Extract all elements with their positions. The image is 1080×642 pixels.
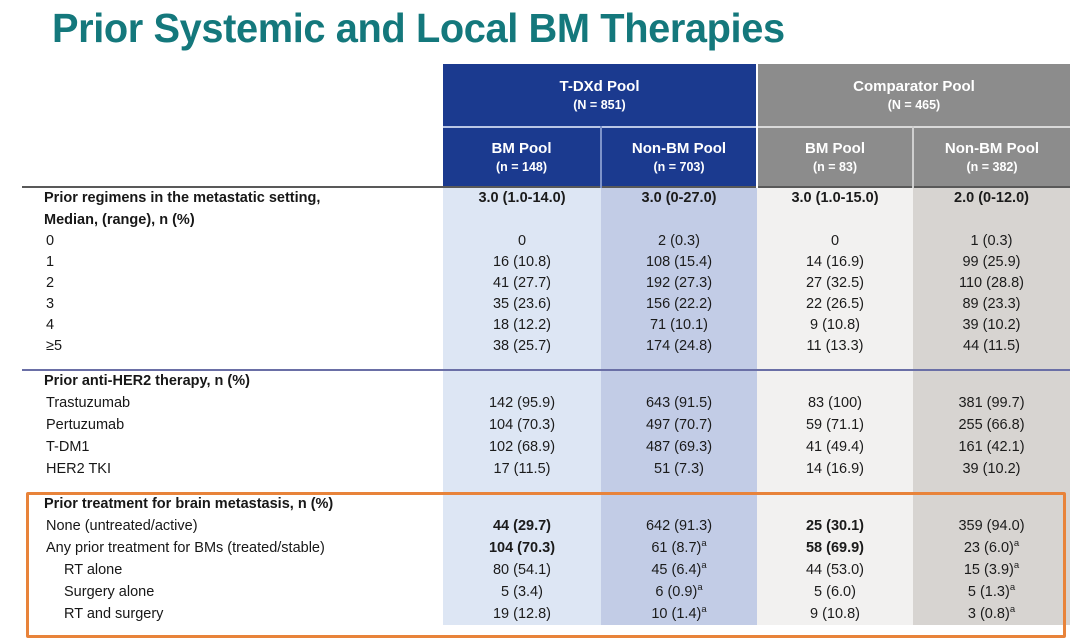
section-gap-1-c1: [443, 357, 601, 370]
row-value-her2-3-c1: 17 (11.5): [443, 458, 601, 480]
row-value-regimens-4-c4: 39 (10.2): [913, 315, 1070, 336]
spacer-c4: [913, 209, 1070, 231]
column-header-tdxd-bm-label: BM Pool: [492, 140, 552, 157]
row-value-bmtx-2-c3: 44 (53.0): [757, 559, 913, 581]
row-value-bmtx-3-c3: 5 (6.0): [757, 581, 913, 603]
section-prior-regimens-heading-line1: Prior regimens in the metastatic setting…: [22, 187, 443, 209]
column-header-comparator-bm-label: BM Pool: [805, 140, 865, 157]
table-row: Pertuzumab 104 (70.3) 497 (70.7) 59 (71.…: [22, 414, 1070, 436]
row-value-bmtx-2-c2-text: 45 (6.4): [651, 562, 701, 578]
footnote-marker: a: [1014, 560, 1019, 571]
row-value-regimens-0-c2: 2 (0.3): [601, 231, 757, 252]
section-gap-1-c3: [757, 357, 913, 370]
row-label-bmtx-2: RT alone: [22, 559, 443, 581]
footnote-marker: a: [701, 560, 706, 571]
section-gap-2-c4: [913, 480, 1070, 493]
spacer-c3: [757, 209, 913, 231]
row-value-regimens-1-c3: 14 (16.9): [757, 252, 913, 273]
row-value-bmtx-4-c4: 3 (0.8)a: [913, 603, 1070, 625]
row-value-her2-0-c4: 381 (99.7): [913, 392, 1070, 414]
spacer-c1: [443, 209, 601, 231]
group-header-comparator-pool: Comparator Pool (N = 465): [757, 64, 1070, 127]
row-value-bmtx-4-c2-text: 10 (1.4): [651, 606, 701, 622]
row-label-bmtx-1: Any prior treatment for BMs (treated/sta…: [22, 537, 443, 559]
row-value-bmtx-4-c1: 19 (12.8): [443, 603, 601, 625]
row-value-bmtx-1-c2-text: 61 (8.7): [651, 540, 701, 556]
section-gap-2: [22, 480, 1070, 493]
row-value-bmtx-0-c2: 642 (91.3): [601, 515, 757, 537]
section-prior-anti-her2-c4: [913, 370, 1070, 392]
row-value-regimens-2-c1: 41 (27.7): [443, 273, 601, 294]
row-value-regimens-5-c2: 174 (24.8): [601, 336, 757, 357]
column-header-comparator-nonbm-pool: Non-BM Pool (n = 382): [913, 127, 1070, 187]
section-prior-regimens-median-c4: 2.0 (0-12.0): [913, 187, 1070, 209]
row-value-regimens-0-c3: 0: [757, 231, 913, 252]
row-value-regimens-2-c3: 27 (32.5): [757, 273, 913, 294]
row-label-bmtx-4: RT and surgery: [22, 603, 443, 625]
row-value-her2-2-c3: 41 (49.4): [757, 436, 913, 458]
row-value-regimens-1-c4: 99 (25.9): [913, 252, 1070, 273]
group-header-tdxd-n: (N = 851): [443, 97, 756, 113]
table-row: 2 41 (27.7) 192 (27.3) 27 (32.5) 110 (28…: [22, 273, 1070, 294]
column-header-tdxd-nonbm-label: Non-BM Pool: [632, 140, 726, 157]
section-brain-met-c1: [443, 493, 601, 515]
row-value-her2-0-c3: 83 (100): [757, 392, 913, 414]
table-row: Surgery alone 5 (3.4) 6 (0.9)a 5 (6.0) 5…: [22, 581, 1070, 603]
column-header-comparator-bm-pool: BM Pool (n = 83): [757, 127, 913, 187]
section-brain-met-c3: [757, 493, 913, 515]
footnote-marker: a: [697, 582, 702, 593]
row-value-bmtx-3-c4: 5 (1.3)a: [913, 581, 1070, 603]
section-gap-2-c3: [757, 480, 913, 493]
table-header: T-DXd Pool (N = 851) Comparator Pool (N …: [22, 64, 1070, 187]
section-gap-2-label: [22, 480, 443, 493]
row-value-bmtx-4-c3: 9 (10.8): [757, 603, 913, 625]
section-brain-met-heading: Prior treatment for brain metastasis, n …: [22, 493, 443, 515]
row-label-regimens-4: 4: [22, 315, 443, 336]
row-value-bmtx-3-c4-text: 5 (1.3): [968, 584, 1010, 600]
footnote-marker: a: [701, 604, 706, 615]
section-prior-regimens-median-c1: 3.0 (1.0-14.0): [443, 187, 601, 209]
row-label-regimens-3: 3: [22, 294, 443, 315]
group-header-tdxd-pool: T-DXd Pool (N = 851): [443, 64, 757, 127]
section-gap-2-c2: [601, 480, 757, 493]
table-body: Prior regimens in the metastatic setting…: [22, 187, 1070, 625]
row-value-regimens-3-c4: 89 (23.3): [913, 294, 1070, 315]
prior-therapies-table: T-DXd Pool (N = 851) Comparator Pool (N …: [22, 64, 1070, 625]
header-corner-blank: [22, 64, 443, 127]
row-value-regimens-3-c2: 156 (22.2): [601, 294, 757, 315]
row-value-regimens-5-c4: 44 (11.5): [913, 336, 1070, 357]
row-value-regimens-0-c1: 0: [443, 231, 601, 252]
section-gap-1: [22, 357, 1070, 370]
row-value-bmtx-1-c3: 58 (69.9): [757, 537, 913, 559]
table-row: 3 35 (23.6) 156 (22.2) 22 (26.5) 89 (23.…: [22, 294, 1070, 315]
row-label-regimens-5: ≥5: [22, 336, 443, 357]
column-header-tdxd-nonbm-pool: Non-BM Pool (n = 703): [601, 127, 757, 187]
row-value-regimens-3-c1: 35 (23.6): [443, 294, 601, 315]
row-value-her2-1-c3: 59 (71.1): [757, 414, 913, 436]
row-value-regimens-4-c2: 71 (10.1): [601, 315, 757, 336]
row-value-bmtx-3-c2: 6 (0.9)a: [601, 581, 757, 603]
section-brain-met-heading-row: Prior treatment for brain metastasis, n …: [22, 493, 1070, 515]
row-value-regimens-0-c4: 1 (0.3): [913, 231, 1070, 252]
row-label-regimens-2: 2: [22, 273, 443, 294]
section-prior-regimens-heading-row2: Median, (range), n (%): [22, 209, 1070, 231]
column-header-tdxd-bm-pool: BM Pool (n = 148): [443, 127, 601, 187]
row-value-bmtx-0-c3: 25 (30.1): [757, 515, 913, 537]
row-value-bmtx-0-c4-text: 359 (94.0): [958, 518, 1024, 534]
row-value-her2-0-c2: 643 (91.5): [601, 392, 757, 414]
row-value-bmtx-1-c1: 104 (70.3): [443, 537, 601, 559]
row-value-her2-2-c1: 102 (68.9): [443, 436, 601, 458]
table-row: RT and surgery 19 (12.8) 10 (1.4)a 9 (10…: [22, 603, 1070, 625]
section-gap-1-c2: [601, 357, 757, 370]
table-row: 4 18 (12.2) 71 (10.1) 9 (10.8) 39 (10.2): [22, 315, 1070, 336]
group-header-tdxd-label: T-DXd Pool: [560, 78, 640, 95]
section-brain-met-c4: [913, 493, 1070, 515]
therapies-table-container: T-DXd Pool (N = 851) Comparator Pool (N …: [22, 64, 1070, 642]
row-value-her2-0-c1: 142 (95.9): [443, 392, 601, 414]
row-value-her2-3-c2: 51 (7.3): [601, 458, 757, 480]
row-value-bmtx-2-c2: 45 (6.4)a: [601, 559, 757, 581]
section-prior-regimens-heading-line2: Median, (range), n (%): [22, 209, 443, 231]
row-value-regimens-2-c2: 192 (27.3): [601, 273, 757, 294]
table-row: None (untreated/active) 44 (29.7) 642 (9…: [22, 515, 1070, 537]
row-label-regimens-0: 0: [22, 231, 443, 252]
column-header-comparator-bm-n: (n = 83): [758, 159, 912, 175]
row-label-her2-2: T-DM1: [22, 436, 443, 458]
row-label-regimens-1: 1: [22, 252, 443, 273]
section-prior-regimens-median-c2: 3.0 (0-27.0): [601, 187, 757, 209]
column-header-comparator-nonbm-label: Non-BM Pool: [945, 140, 1039, 157]
section-gap-2-c1: [443, 480, 601, 493]
row-value-bmtx-1-c2: 61 (8.7)a: [601, 537, 757, 559]
row-value-her2-2-c4: 161 (42.1): [913, 436, 1070, 458]
footnote-marker: a: [701, 538, 706, 549]
footnote-marker: a: [1010, 582, 1015, 593]
row-value-regimens-5-c3: 11 (13.3): [757, 336, 913, 357]
column-header-row: BM Pool (n = 148) Non-BM Pool (n = 703) …: [22, 127, 1070, 187]
column-header-tdxd-nonbm-n: (n = 703): [602, 159, 756, 175]
table-row: T-DM1 102 (68.9) 487 (69.3) 41 (49.4) 16…: [22, 436, 1070, 458]
row-value-bmtx-1-c4-text: 23 (6.0): [964, 540, 1014, 556]
section-gap-1-c4: [913, 357, 1070, 370]
group-header-comparator-label: Comparator Pool: [853, 78, 975, 95]
row-value-bmtx-2-c1: 80 (54.1): [443, 559, 601, 581]
row-value-her2-3-c3: 14 (16.9): [757, 458, 913, 480]
row-value-bmtx-1-c4: 23 (6.0)a: [913, 537, 1070, 559]
section-prior-anti-her2-c1: [443, 370, 601, 392]
row-value-her2-2-c2: 487 (69.3): [601, 436, 757, 458]
row-label-bmtx-0: None (untreated/active): [22, 515, 443, 537]
group-header-row: T-DXd Pool (N = 851) Comparator Pool (N …: [22, 64, 1070, 127]
section-prior-anti-her2-heading: Prior anti-HER2 therapy, n (%): [22, 370, 443, 392]
section-prior-anti-her2-c3: [757, 370, 913, 392]
table-row: ≥5 38 (25.7) 174 (24.8) 11 (13.3) 44 (11…: [22, 336, 1070, 357]
group-header-comparator-n: (N = 465): [758, 97, 1070, 113]
row-label-bmtx-3: Surgery alone: [22, 581, 443, 603]
section-gap-1-label: [22, 357, 443, 370]
section-prior-regimens-median-c3: 3.0 (1.0-15.0): [757, 187, 913, 209]
row-value-regimens-1-c2: 108 (15.4): [601, 252, 757, 273]
row-value-bmtx-2-c4-text: 15 (3.9): [964, 562, 1014, 578]
row-value-bmtx-3-c1: 5 (3.4): [443, 581, 601, 603]
row-value-her2-1-c2: 497 (70.7): [601, 414, 757, 436]
row-value-regimens-4-c1: 18 (12.2): [443, 315, 601, 336]
row-value-her2-1-c1: 104 (70.3): [443, 414, 601, 436]
footnote-marker: a: [1014, 538, 1019, 549]
table-row: HER2 TKI 17 (11.5) 51 (7.3) 14 (16.9) 39…: [22, 458, 1070, 480]
table-row: 1 16 (10.8) 108 (15.4) 14 (16.9) 99 (25.…: [22, 252, 1070, 273]
row-value-bmtx-3-c2-text: 6 (0.9): [655, 584, 697, 600]
table-row: 0 0 2 (0.3) 0 1 (0.3): [22, 231, 1070, 252]
row-value-bmtx-4-c2: 10 (1.4)a: [601, 603, 757, 625]
row-value-bmtx-0-c4: 359 (94.0): [913, 515, 1070, 537]
row-label-her2-0: Trastuzumab: [22, 392, 443, 414]
header-corner-blank-2: [22, 127, 443, 187]
row-value-regimens-2-c4: 110 (28.8): [913, 273, 1070, 294]
spacer-c2: [601, 209, 757, 231]
row-label-her2-3: HER2 TKI: [22, 458, 443, 480]
column-header-tdxd-bm-n: (n = 148): [443, 159, 600, 175]
section-prior-anti-her2-heading-row: Prior anti-HER2 therapy, n (%): [22, 370, 1070, 392]
section-prior-anti-her2-c2: [601, 370, 757, 392]
table-row: Trastuzumab 142 (95.9) 643 (91.5) 83 (10…: [22, 392, 1070, 414]
page-title: Prior Systemic and Local BM Therapies: [52, 0, 785, 56]
row-value-bmtx-0-c2-text: 642 (91.3): [646, 518, 712, 534]
column-header-comparator-nonbm-n: (n = 382): [914, 159, 1070, 175]
footnote-marker: a: [1010, 604, 1015, 615]
row-value-regimens-4-c3: 9 (10.8): [757, 315, 913, 336]
section-brain-met-c2: [601, 493, 757, 515]
row-value-her2-1-c4: 255 (66.8): [913, 414, 1070, 436]
row-value-bmtx-2-c4: 15 (3.9)a: [913, 559, 1070, 581]
section-prior-regimens-heading-row: Prior regimens in the metastatic setting…: [22, 187, 1070, 209]
row-value-regimens-3-c3: 22 (26.5): [757, 294, 913, 315]
table-row: RT alone 80 (54.1) 45 (6.4)a 44 (53.0) 1…: [22, 559, 1070, 581]
row-value-regimens-1-c1: 16 (10.8): [443, 252, 601, 273]
row-value-bmtx-4-c4-text: 3 (0.8): [968, 606, 1010, 622]
table-row: Any prior treatment for BMs (treated/sta…: [22, 537, 1070, 559]
row-value-her2-3-c4: 39 (10.2): [913, 458, 1070, 480]
row-value-bmtx-0-c1: 44 (29.7): [443, 515, 601, 537]
row-label-her2-1: Pertuzumab: [22, 414, 443, 436]
row-value-regimens-5-c1: 38 (25.7): [443, 336, 601, 357]
